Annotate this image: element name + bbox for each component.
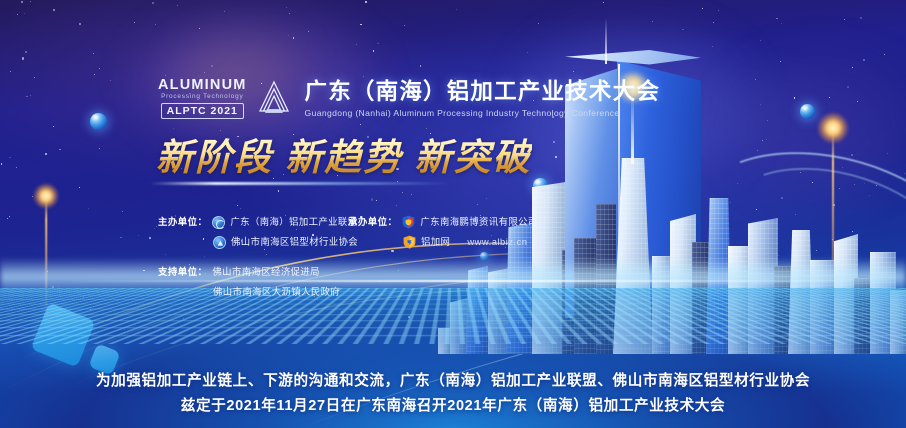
host-organizer-block: 主办单位： 广东（南海）铝加工产业联盟 佛山市南海区铝型材行业协会	[158, 212, 358, 252]
organizer-row: 铝加网 www.albiz.cn	[348, 232, 538, 252]
supporter-name: 佛山市南海区大沥镇人民政府	[213, 287, 340, 296]
organizer-block: 承办单位： 广东南海鹏博资讯有限公司 铝加网 www.albiz.cn	[348, 212, 538, 252]
accent-diamond-small	[88, 343, 121, 376]
footer-line-1: 为加强铝加工产业链上、下游的沟通和交流，广东（南海）铝加工产业联盟、佛山市南海区…	[0, 373, 906, 389]
pengbo-shield-icon	[402, 215, 415, 229]
supporter-row: 支持单位： 佛山市南海区经济促进局	[158, 262, 340, 282]
footer-announcement: 为加强铝加工产业链上、下游的沟通和交流，广东（南海）铝加工产业联盟、佛山市南海区…	[0, 373, 906, 414]
alptc-line-processing: Processing Technology	[161, 94, 243, 100]
accent-diamond-large	[30, 302, 95, 367]
host-label: 主办单位：	[158, 217, 207, 226]
supporter-name: 佛山市南海区经济促进局	[212, 267, 320, 276]
beam-spark-icon	[33, 183, 59, 209]
organizer-row: 承办单位： 广东南海鹏博资讯有限公司	[348, 212, 538, 232]
slogan-underline	[150, 182, 450, 185]
supporter-block: 支持单位： 佛山市南海区经济促进局 佛山市南海区大沥镇人民政府	[158, 262, 340, 302]
organizer-url[interactable]: www.albiz.cn	[467, 237, 527, 246]
association-circle-badge-icon	[213, 236, 226, 249]
city-skyline-left	[436, 234, 496, 354]
albiz-shield-icon	[403, 235, 416, 249]
organizer-name: 铝加网	[421, 237, 450, 246]
alliance-circle-badge-icon	[212, 216, 225, 229]
tower-spire	[605, 18, 607, 64]
organizer-label: 承办单位：	[348, 217, 397, 226]
conference-slogan: 新阶段 新趋势 新突破	[156, 138, 532, 179]
supporter-label: 支持单位：	[158, 267, 207, 276]
conference-title-en: Guangdong (Nanhai) Aluminum Processing I…	[305, 108, 661, 118]
host-name: 佛山市南海区铝型材行业协会	[231, 237, 358, 246]
host-name: 广东（南海）铝加工产业联盟	[230, 217, 357, 226]
host-row: 主办单位： 广东（南海）铝加工产业联盟	[158, 212, 358, 232]
alptc-line-aluminum: ALUMINUM	[158, 78, 247, 93]
decorative-sphere	[90, 113, 107, 130]
conference-poster: ALUMINUM Processing Technology ALPTC 202…	[0, 0, 906, 428]
conference-logo-header: ALUMINUM Processing Technology ALPTC 202…	[158, 78, 660, 119]
conference-title-cn: 广东（南海）铝加工产业技术大会	[305, 79, 661, 106]
organizer-name: 广东南海鹏博资讯有限公司	[420, 217, 537, 226]
alptc-line-year: ALPTC 2021	[161, 103, 244, 119]
triangle-a-mark-icon	[257, 78, 291, 118]
host-row: 佛山市南海区铝型材行业协会	[158, 232, 358, 252]
conference-titles: 广东（南海）铝加工产业技术大会 Guangdong (Nanhai) Alumi…	[305, 79, 661, 119]
alptc-wordmark: ALUMINUM Processing Technology ALPTC 202…	[158, 78, 247, 119]
footer-line-2: 兹定于2021年11月27日在广东南海召开2021年广东（南海）铝加工产业技术大…	[0, 398, 906, 414]
supporter-row: 佛山市南海区大沥镇人民政府	[158, 282, 340, 302]
